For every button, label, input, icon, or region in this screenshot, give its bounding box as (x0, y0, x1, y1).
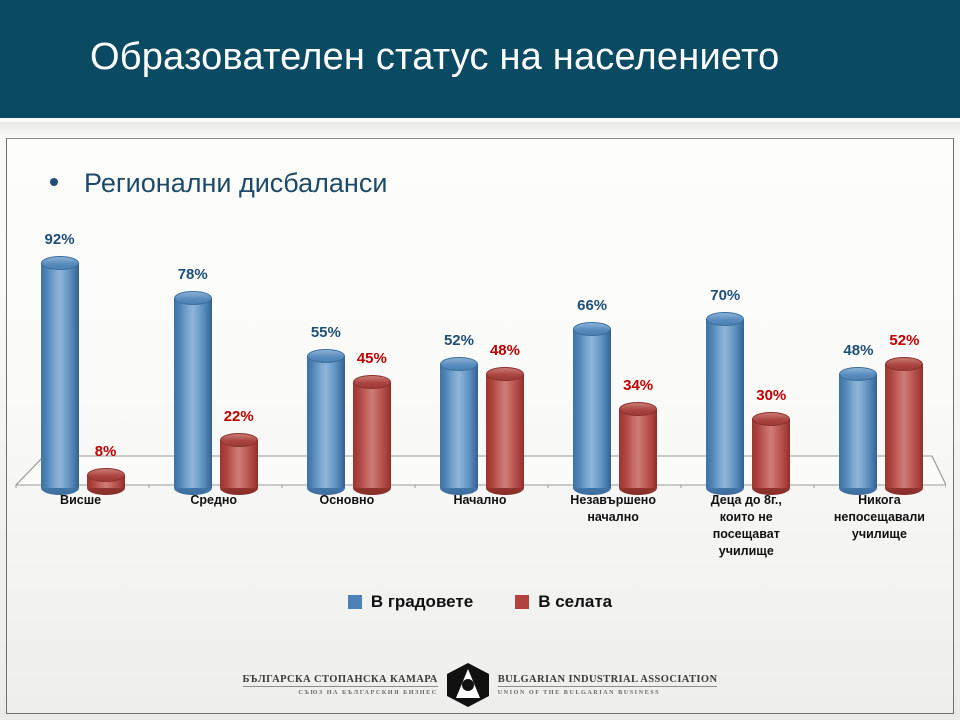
legend-item[interactable]: В селата (515, 592, 612, 612)
logo-right-main: BULGARIAN INDUSTRIAL ASSOCIATION (498, 674, 718, 687)
bar-urban (706, 312, 744, 488)
category-label-line: Висше (14, 492, 147, 509)
legend-swatch-icon (348, 595, 362, 609)
logo-text-english: BULGARIAN INDUSTRIAL ASSOCIATION UNION O… (498, 674, 718, 696)
page-title: Образователен статус на населението (90, 36, 890, 79)
category-label-line: непосещавали (813, 509, 946, 526)
cylinder-shape (839, 367, 877, 488)
bar-urban (174, 291, 212, 488)
bar-urban (573, 322, 611, 488)
category-label-line: Начално (413, 492, 546, 509)
cylinder-body (486, 374, 524, 488)
logo-left-sub: СЪЮЗ НА БЪЛГАРСКИЯ БИЗНЕС (298, 687, 437, 696)
cylinder-shape (41, 256, 79, 488)
cylinder-top (41, 256, 79, 270)
cylinder-body (440, 364, 478, 488)
bar-value-label: 66% (565, 297, 619, 314)
bar-urban (41, 256, 79, 488)
cylinder-top (486, 367, 524, 381)
cylinder-shape (885, 357, 923, 488)
cylinder-body (839, 374, 877, 488)
bar-rural (619, 402, 657, 488)
cylinder-top (706, 312, 744, 326)
bullet-row: Регионални дисбаланси (50, 168, 387, 199)
bar-rural (353, 375, 391, 488)
bar-rural (87, 468, 125, 488)
bar-value-label: 78% (166, 266, 220, 283)
cylinder-shape (573, 322, 611, 488)
bar-value-label: 48% (478, 342, 532, 359)
category-label: Незавършеноначално (547, 492, 680, 526)
bar-rural (486, 367, 524, 488)
bar-urban (839, 367, 877, 488)
category-label-line: Незавършено (547, 492, 680, 509)
cylinder-body (174, 298, 212, 488)
bar-rural (220, 433, 258, 488)
cylinder-body (752, 419, 790, 488)
category-label: Деца до 8г.,които непосещаватучилище (680, 492, 813, 560)
bar-rural (885, 357, 923, 488)
cylinder-body (706, 319, 744, 488)
cylinder-shape (353, 375, 391, 488)
bar-value-label: 45% (345, 350, 399, 367)
cylinder-top (87, 468, 125, 482)
cylinder-shape (87, 468, 125, 488)
category-label: Никоганепосещавалиучилище (813, 492, 946, 543)
bar-value-label: 8% (79, 443, 133, 460)
cylinder-shape (486, 367, 524, 488)
cylinder-body (573, 329, 611, 488)
bar-value-label: 92% (33, 231, 87, 248)
bar-value-label: 55% (299, 324, 353, 341)
cylinder-top (573, 322, 611, 336)
category-label: Начално (413, 492, 546, 509)
chart-legend: В градоветеВ селата (0, 592, 960, 612)
logo-left-main: БЪЛГАРСКА СТОПАНСКА КАМАРА (243, 674, 438, 687)
legend-label: В градовете (371, 592, 473, 612)
chart-plot-area: 92%8%78%22%55%45%52%48%66%34%70%30%48%52… (14, 218, 946, 488)
cylinder-body (41, 263, 79, 488)
bullet-dot-icon (50, 178, 58, 186)
cylinder-body (220, 440, 258, 488)
category-label-line: Деца до 8г., (680, 492, 813, 509)
logo-text-bulgarian: БЪЛГАРСКА СТОПАНСКА КАМАРА СЪЮЗ НА БЪЛГА… (243, 674, 438, 696)
bar-group: 66%34% (547, 218, 680, 488)
cylinder-shape (440, 357, 478, 488)
bar-group: 70%30% (680, 218, 813, 488)
category-label-line: посещават (680, 526, 813, 543)
category-label: Висше (14, 492, 147, 509)
logo-right-sub: UNION OF THE BULGARIAN BUSINESS (498, 687, 660, 696)
bia-hexagon-logo-icon (446, 662, 490, 708)
cylinder-shape (706, 312, 744, 488)
cylinder-shape (619, 402, 657, 488)
legend-item[interactable]: В градовете (348, 592, 473, 612)
category-label-line: Средно (147, 492, 280, 509)
category-label-line: училище (680, 543, 813, 560)
bullet-label: Регионални дисбаланси (84, 168, 387, 199)
legend-swatch-icon (515, 595, 529, 609)
bar-value-label: 30% (744, 387, 798, 404)
cylinder-top (440, 357, 478, 371)
category-label-line: начално (547, 509, 680, 526)
category-axis-labels: ВисшеСредноОсновноНачалноНезавършенонача… (14, 492, 946, 582)
category-label: Основно (280, 492, 413, 509)
cylinder-top (220, 433, 258, 447)
bar-value-label: 34% (611, 377, 665, 394)
bar-urban (307, 349, 345, 488)
bar-urban (440, 357, 478, 488)
cylinder-shape (220, 433, 258, 488)
bar-value-label: 70% (698, 287, 752, 304)
footer-logo: БЪЛГАРСКА СТОПАНСКА КАМАРА СЪЮЗ НА БЪЛГА… (0, 662, 960, 708)
cylinder-top (353, 375, 391, 389)
category-label-line: които не (680, 509, 813, 526)
cylinder-body (885, 364, 923, 488)
bar-group: 92%8% (14, 218, 147, 488)
bar-group: 48%52% (813, 218, 946, 488)
cylinder-shape (174, 291, 212, 488)
bar-value-label: 22% (212, 408, 266, 425)
cylinder-body (619, 409, 657, 488)
bar-group: 55%45% (280, 218, 413, 488)
cylinder-body (353, 382, 391, 488)
slide: Образователен статус на населението Реги… (0, 0, 960, 720)
cylinder-shape (307, 349, 345, 488)
category-label-line: Основно (280, 492, 413, 509)
cylinder-shape (752, 412, 790, 488)
bar-group: 52%48% (413, 218, 546, 488)
bar-group: 78%22% (147, 218, 280, 488)
legend-label: В селата (538, 592, 612, 612)
category-label-line: Никога (813, 492, 946, 509)
category-label: Средно (147, 492, 280, 509)
bar-value-label: 52% (877, 332, 931, 349)
bar-rural (752, 412, 790, 488)
category-label-line: училище (813, 526, 946, 543)
title-band-shadow (0, 122, 960, 138)
cylinder-body (307, 356, 345, 488)
